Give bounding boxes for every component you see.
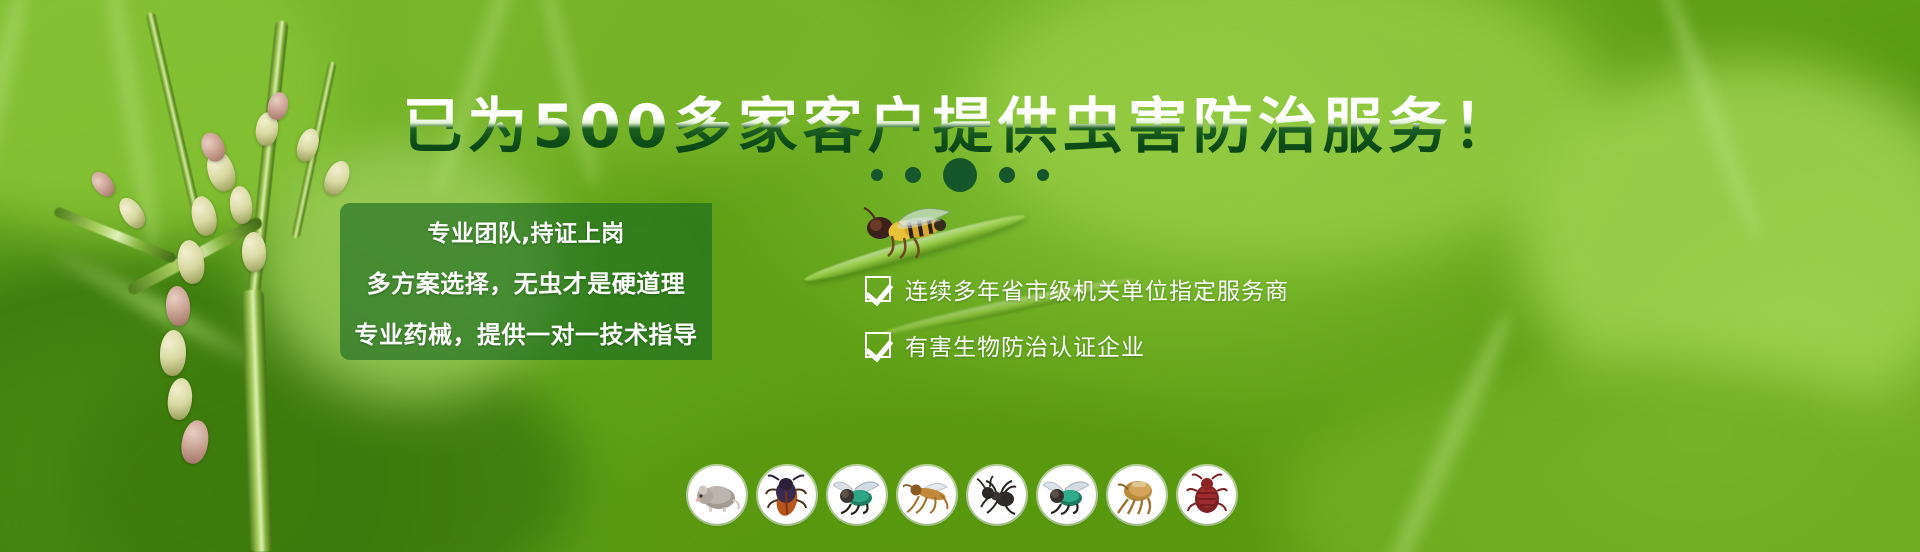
page-title-text: 已为500多家客户提供虫害防治服务！ xyxy=(402,92,1517,162)
dot-small-left xyxy=(871,169,883,181)
dot-medium-right xyxy=(999,167,1015,183)
fly-icon[interactable] xyxy=(828,466,886,524)
bedbug-icon[interactable] xyxy=(1178,466,1236,524)
list-item: 有害生物防治认证企业 xyxy=(865,328,1289,362)
page-title: 已为500多家客户提供虫害防治服务！ 已为500多家客户提供虫害防治服务！ xyxy=(0,78,1920,165)
blowfly-icon[interactable] xyxy=(1038,466,1096,524)
mosquito-icon[interactable] xyxy=(898,466,956,524)
dot-medium-left xyxy=(905,167,921,183)
pest-icon-row xyxy=(688,466,1236,524)
cockroach-icon[interactable] xyxy=(758,466,816,524)
dot-large-center xyxy=(943,158,977,192)
promo-banner: 已为500多家客户提供虫害防治服务！ 已为500多家客户提供虫害防治服务！ 专业… xyxy=(0,0,1920,552)
selling-point-2: 多方案选择，无虫才是硬道理 xyxy=(367,264,686,299)
list-item: 连续多年省市级机关单位指定服务商 xyxy=(865,272,1289,306)
checkbox-checked-icon xyxy=(865,332,891,358)
selling-point-1: 专业团队,持证上岗 xyxy=(427,214,624,248)
mouse-icon[interactable] xyxy=(688,466,746,524)
selling-point-3: 专业药械，提供一对一技术指导 xyxy=(355,315,698,350)
flea-icon[interactable] xyxy=(1108,466,1166,524)
certification-list: 连续多年省市级机关单位指定服务商 有害生物防治认证企业 xyxy=(865,272,1289,362)
certification-text-2: 有害生物防治认证企业 xyxy=(905,328,1145,362)
ant-icon[interactable] xyxy=(968,466,1026,524)
decorative-dots xyxy=(0,158,1920,192)
checkbox-checked-icon xyxy=(865,276,891,302)
selling-points-list: 专业团队,持证上岗 多方案选择，无虫才是硬道理 专业药械，提供一对一技术指导 xyxy=(340,203,712,360)
certification-text-1: 连续多年省市级机关单位指定服务商 xyxy=(905,272,1289,306)
dot-small-right xyxy=(1037,169,1049,181)
hoverfly-icon xyxy=(846,198,966,268)
